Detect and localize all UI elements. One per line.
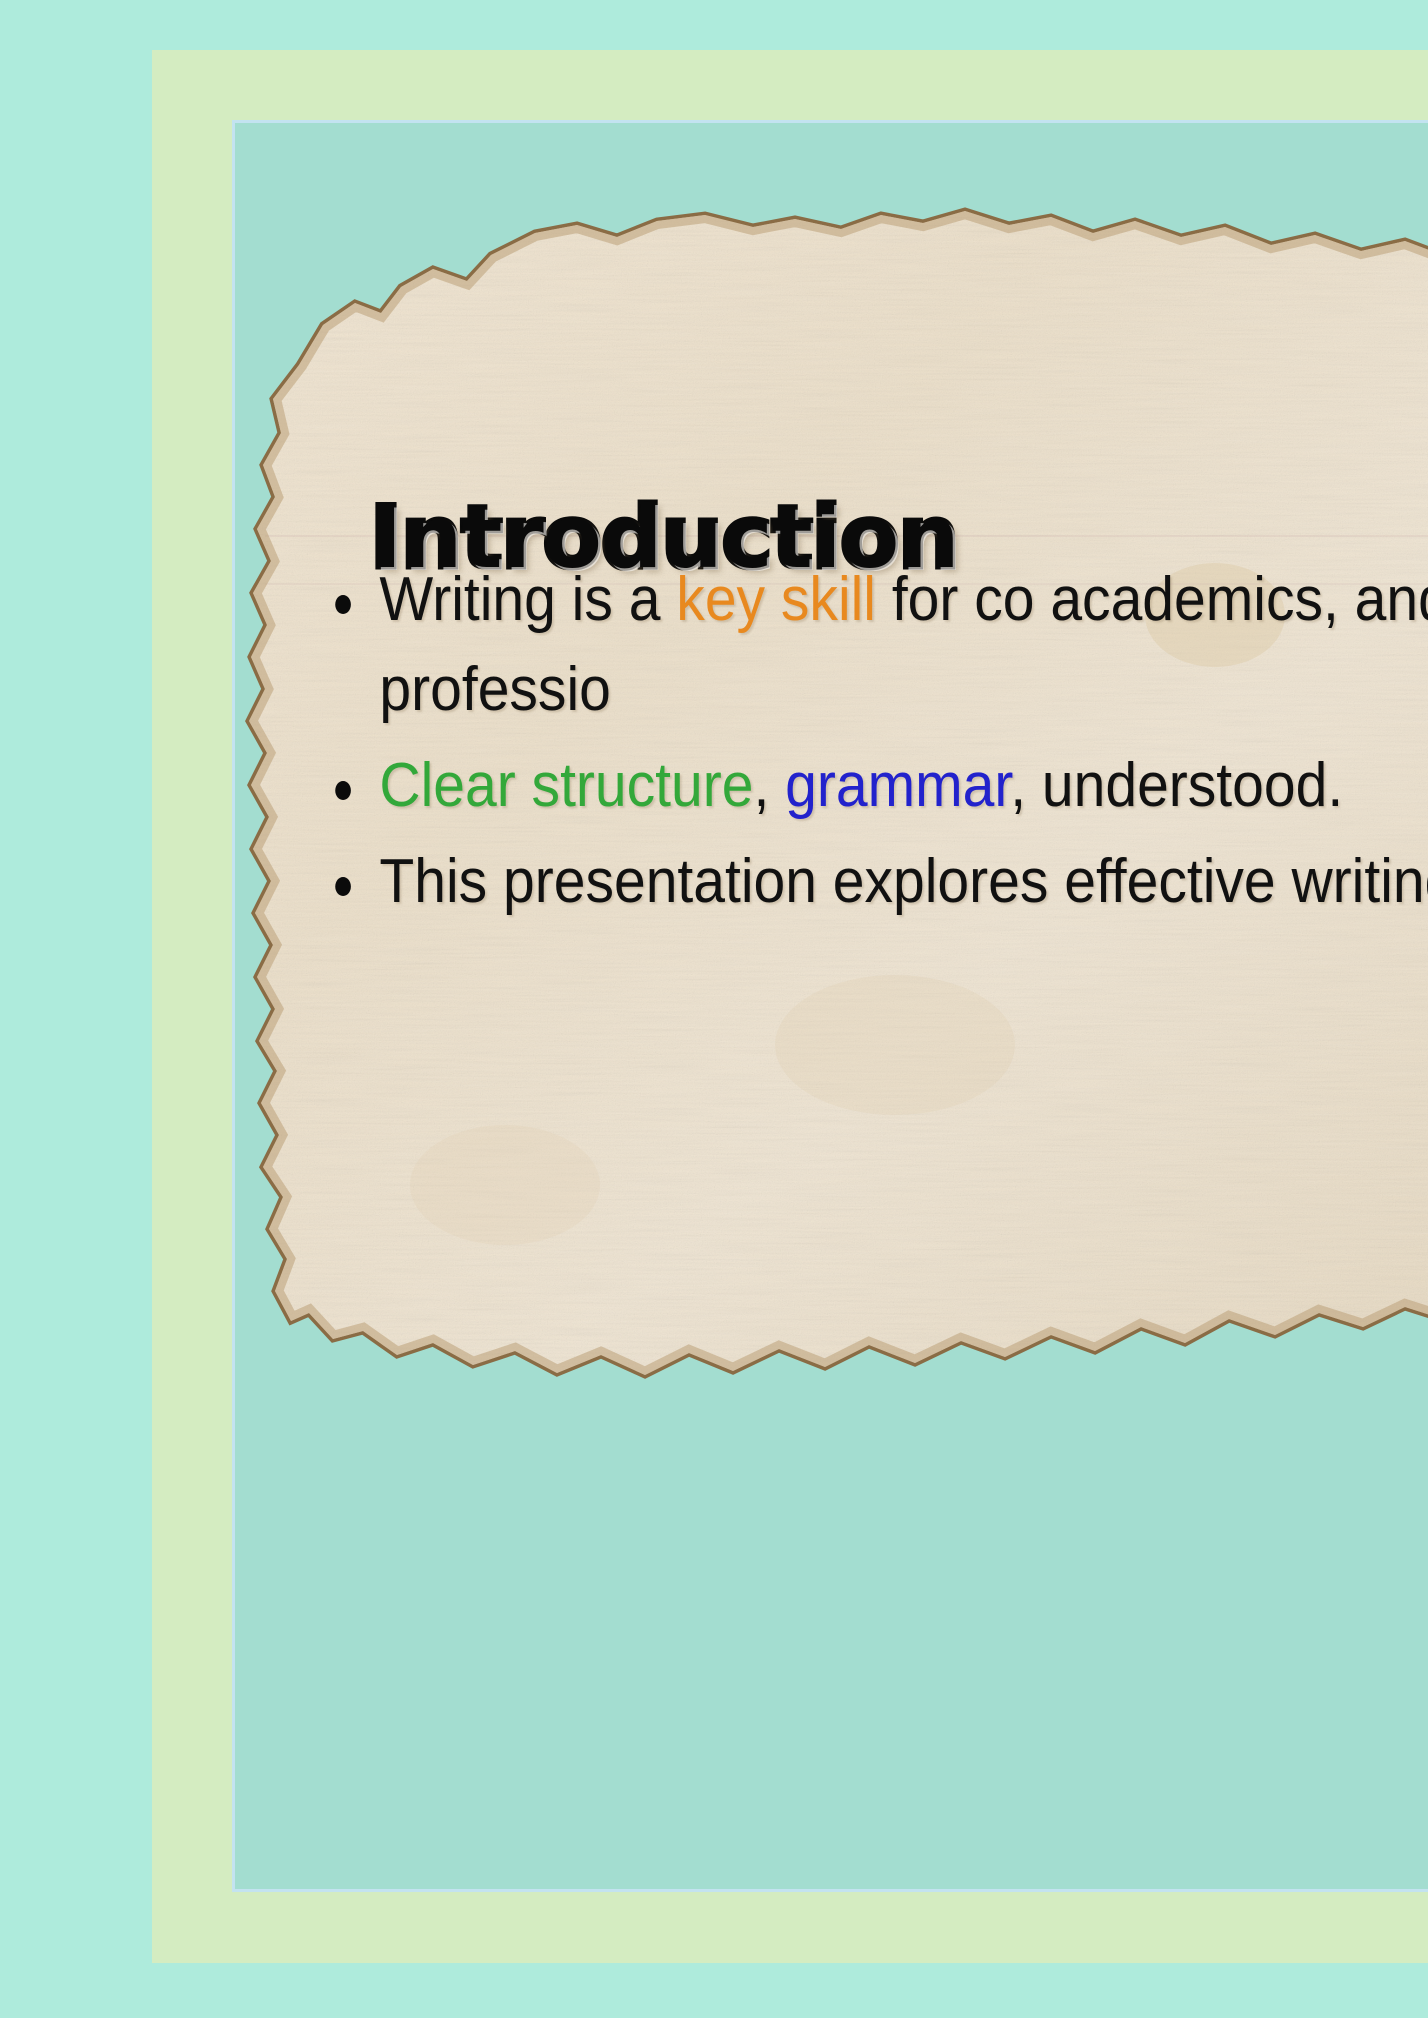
bullet-segment: This presentation explores (379, 847, 1048, 916)
bullet-2-continuation: understood. (1042, 751, 1343, 820)
bullet-segment: , (753, 751, 785, 820)
bullet-segment: grammar (785, 751, 1010, 820)
bullet-segment: Clear structure (379, 751, 753, 820)
bullet-segment: for co (876, 565, 1035, 634)
bullet-1-segments: Writing is a key skill for co (379, 565, 1034, 634)
list-item: Clear structure, grammar, understood. (315, 741, 1428, 831)
slide-content-area: Introduction Writing is a key skill for … (205, 185, 1428, 1400)
slide-root: Introduction Writing is a key skill for … (0, 0, 1428, 2018)
bullet-segment: Writing is a (379, 565, 676, 634)
list-item: This presentation explores effective wri… (315, 837, 1428, 927)
bullet-3-continuation: effective writing. (1064, 847, 1428, 916)
bullet-list: Writing is a key skill for co academics,… (315, 555, 1428, 933)
bullet-segment: key skill (676, 565, 876, 634)
list-item: Writing is a key skill for co academics,… (315, 555, 1428, 735)
bullet-3-segments: This presentation explores (379, 847, 1048, 916)
bullet-segment: , (1010, 751, 1026, 820)
bullet-2-segments: Clear structure, grammar, (379, 751, 1026, 820)
